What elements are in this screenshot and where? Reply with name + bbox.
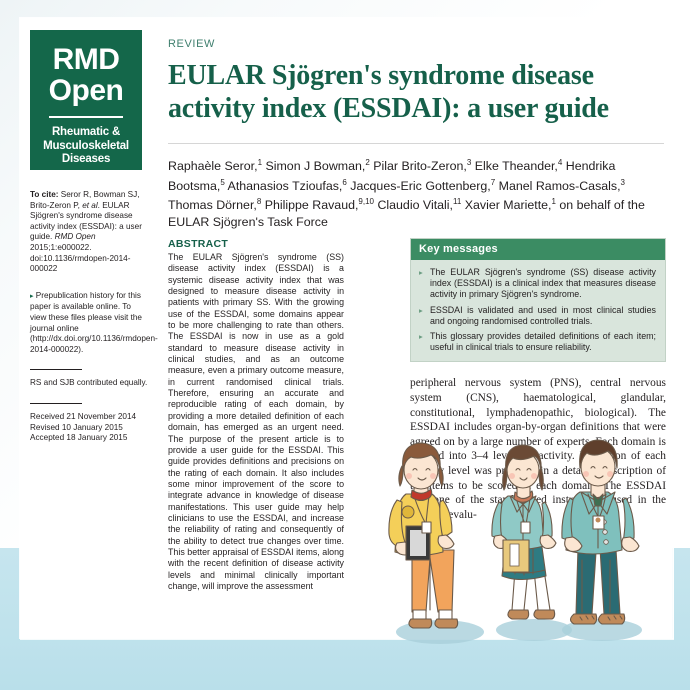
logo-divider <box>49 116 123 118</box>
illustration-svg: .ln{fill:none;stroke:#6b5a4a;stroke-widt… <box>382 430 682 660</box>
citation-journal: RMD Open <box>55 232 96 241</box>
author-list: Raphaèle Seror,1 Simon J Bowman,2 Pilar … <box>168 155 664 230</box>
list-item: ▸ The EULAR Sjögren's syndrome (SS) dise… <box>419 267 656 301</box>
person-center <box>492 445 556 619</box>
revised-date: Revised 10 January 2015 <box>30 423 148 434</box>
key-messages-box: Key messages ▸ The EULAR Sjögren's syndr… <box>410 238 666 362</box>
key-messages-list: ▸ The EULAR Sjögren's syndrome (SS) dise… <box>411 260 665 361</box>
list-item: ▸ This glossary provides detailed defini… <box>419 331 656 353</box>
article-type-kicker: REVIEW <box>168 38 664 50</box>
shadow-center <box>496 619 572 641</box>
logo-line-open: Open <box>49 75 124 106</box>
abstract-column: ABSTRACT The EULAR Sjögren's syndrome (S… <box>168 238 344 592</box>
triangle-bullet-icon: ▸ <box>419 305 430 327</box>
triangle-bullet-icon: ▸ <box>419 267 430 301</box>
logo-line-rmd: RMD <box>53 44 120 75</box>
key-message-text: The EULAR Sjögren's syndrome (SS) diseas… <box>430 267 656 301</box>
prepublication-note-text: Prepublication history for this paper is… <box>30 291 158 354</box>
citation-label: To cite: <box>30 190 59 199</box>
prepublication-note: ▸ Prepublication history for this paper … <box>30 291 148 356</box>
citation-block: To cite: Seror R, Bowman SJ, Brito-Zeron… <box>30 190 148 275</box>
contribution-note: RS and SJB contributed equally. <box>30 378 148 389</box>
page-title: EULAR Sjögren's syndrome disease activit… <box>168 59 664 125</box>
key-messages-heading: Key messages <box>411 239 665 260</box>
person-right <box>562 440 639 624</box>
accepted-date: Accepted 18 January 2015 <box>30 433 148 444</box>
page-root: RMD Open Rheumatic & Musculoskeletal Dis… <box>0 0 690 690</box>
key-message-text: ESSDAI is validated and used in most cli… <box>430 305 656 327</box>
header-divider <box>168 143 664 144</box>
article-header: REVIEW EULAR Sjögren's syndrome disease … <box>168 38 664 230</box>
sidebar-divider-1 <box>30 369 82 370</box>
key-message-text: This glossary provides detailed definiti… <box>430 331 656 353</box>
sidebar-divider-2 <box>30 403 82 404</box>
citation-doi: 2015;1:e000022. doi:10.1136/rmdopen-2014… <box>30 243 130 273</box>
list-item: ▸ ESSDAI is validated and used in most c… <box>419 305 656 327</box>
triangle-bullet-icon: ▸ <box>419 331 430 353</box>
received-date: Received 21 November 2014 <box>30 412 148 423</box>
abstract-text: The EULAR Sjögren's syndrome (SS) diseas… <box>168 252 344 592</box>
illustration-three-people: .ln{fill:none;stroke:#6b5a4a;stroke-widt… <box>382 430 682 660</box>
citation-etal: et al <box>82 201 97 210</box>
logo-subtitle: Rheumatic & Musculoskeletal Diseases <box>30 126 142 167</box>
person-left <box>389 443 458 628</box>
left-sidebar: RMD Open Rheumatic & Musculoskeletal Dis… <box>30 30 148 444</box>
journal-logo: RMD Open Rheumatic & Musculoskeletal Dis… <box>30 30 142 170</box>
abstract-heading: ABSTRACT <box>168 238 344 250</box>
